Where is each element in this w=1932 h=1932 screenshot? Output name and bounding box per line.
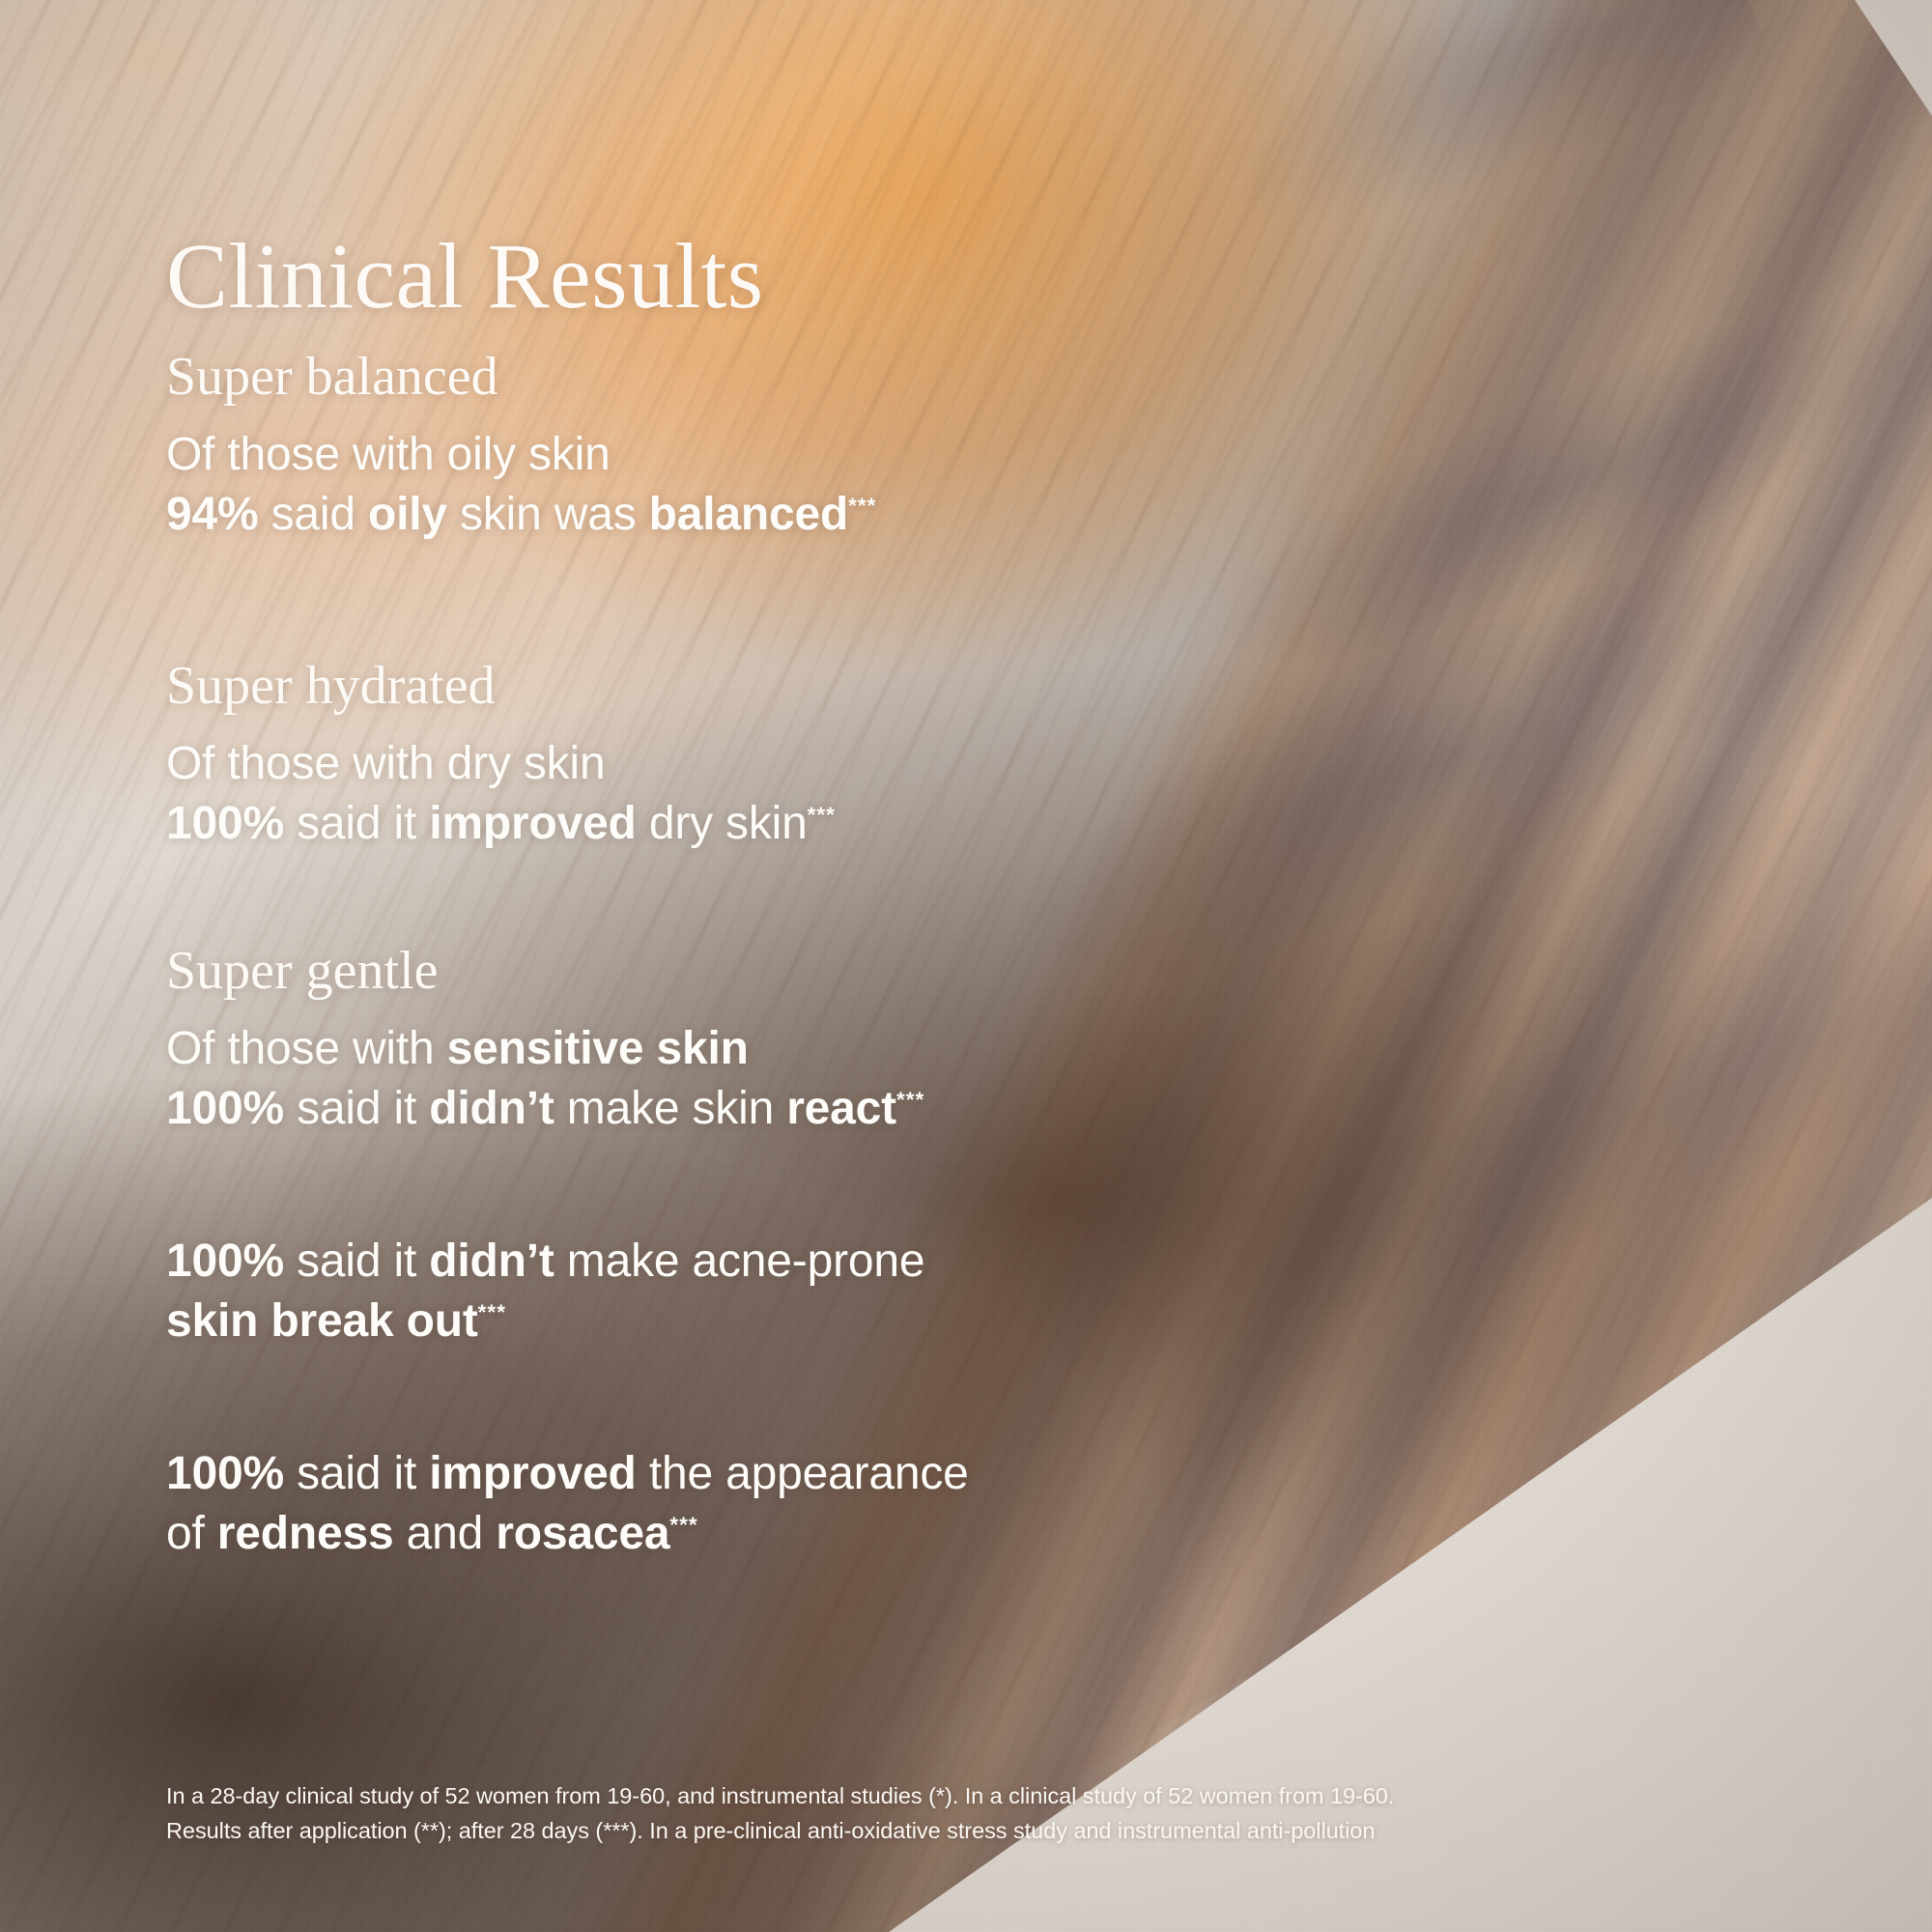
- footnote-marker: ***: [669, 1513, 697, 1537]
- emphasis-text: 100%: [166, 1236, 284, 1287]
- footnote-marker: ***: [478, 1300, 506, 1324]
- plain-text: said it: [284, 1236, 429, 1287]
- page-title: Clinical Results: [166, 228, 764, 326]
- emphasis-text: react: [786, 1083, 896, 1134]
- emphasis-text: 94%: [166, 489, 258, 540]
- section-redness-rosacea: 100% said it improved the appearance of …: [166, 1444, 969, 1565]
- plain-text: Of those with oily skin: [166, 429, 611, 480]
- content-overlay: Clinical Results Super balanced Of those…: [0, 0, 1932, 1932]
- emphasis-text: redness: [217, 1508, 394, 1559]
- emphasis-text: 100%: [166, 798, 284, 849]
- emphasis-text: didn’t: [429, 1236, 554, 1287]
- section-heading: Super hydrated: [166, 657, 836, 717]
- emphasis-text: sensitive skin: [447, 1023, 749, 1074]
- emphasis-text: skin break out: [166, 1295, 478, 1347]
- plain-text: of: [166, 1508, 217, 1559]
- stat-line: 100% said it didn’t make skin react***: [166, 1079, 924, 1139]
- stat-line: 100% said it didn’t make acne-prone: [166, 1232, 924, 1292]
- plain-text: said: [258, 489, 368, 540]
- marketing-graphic: Clinical Results Super balanced Of those…: [0, 0, 1932, 1932]
- footnote-marker: ***: [896, 1088, 924, 1112]
- stat-line: Of those with sensitive skin: [166, 1019, 924, 1079]
- stat-line: 100% said it improved dry skin***: [166, 794, 836, 854]
- section-super-balanced: Super balanced Of those with oily skin 9…: [166, 348, 876, 545]
- plain-text: make acne-prone: [554, 1236, 925, 1287]
- section-acne-prone: 100% said it didn’t make acne-prone skin…: [166, 1232, 924, 1352]
- stat-line: 100% said it improved the appearance: [166, 1444, 969, 1504]
- section-super-hydrated: Super hydrated Of those with dry skin 10…: [166, 657, 836, 854]
- plain-text: and: [393, 1508, 496, 1559]
- plain-text: dry skin: [637, 798, 808, 849]
- footnote-line-2: Results after application (**); after 28…: [166, 1814, 1394, 1849]
- section-heading: Super balanced: [166, 348, 876, 408]
- stat-line: Of those with oily skin: [166, 425, 876, 485]
- emphasis-text: didn’t: [429, 1083, 554, 1134]
- footnote-line-1: In a 28-day clinical study of 52 women f…: [166, 1779, 1394, 1814]
- emphasis-text: improved: [429, 798, 636, 849]
- plain-text: make skin: [554, 1083, 787, 1134]
- footnote-marker: ***: [848, 494, 876, 518]
- section-super-gentle: Super gentle Of those with sensitive ski…: [166, 942, 924, 1139]
- stat-line: 94% said oily skin was balanced***: [166, 485, 876, 545]
- stat-line: of redness and rosacea***: [166, 1504, 969, 1564]
- plain-text: Of those with dry skin: [166, 738, 605, 789]
- emphasis-text: balanced: [649, 489, 848, 540]
- plain-text: said it: [284, 1083, 429, 1134]
- footnote-marker: ***: [808, 803, 836, 827]
- section-heading: Super gentle: [166, 942, 924, 1002]
- plain-text: said it: [284, 798, 429, 849]
- emphasis-text: 100%: [166, 1083, 284, 1134]
- emphasis-text: rosacea: [496, 1508, 669, 1559]
- stat-line: skin break out***: [166, 1292, 924, 1351]
- plain-text: skin was: [447, 489, 649, 540]
- plain-text: said it: [284, 1448, 429, 1499]
- plain-text: Of those with: [166, 1023, 447, 1074]
- footnote: In a 28-day clinical study of 52 women f…: [166, 1779, 1394, 1848]
- stat-line: Of those with dry skin: [166, 734, 836, 794]
- emphasis-text: oily: [368, 489, 447, 540]
- emphasis-text: 100%: [166, 1448, 284, 1499]
- emphasis-text: improved: [429, 1448, 636, 1499]
- plain-text: the appearance: [637, 1448, 969, 1499]
